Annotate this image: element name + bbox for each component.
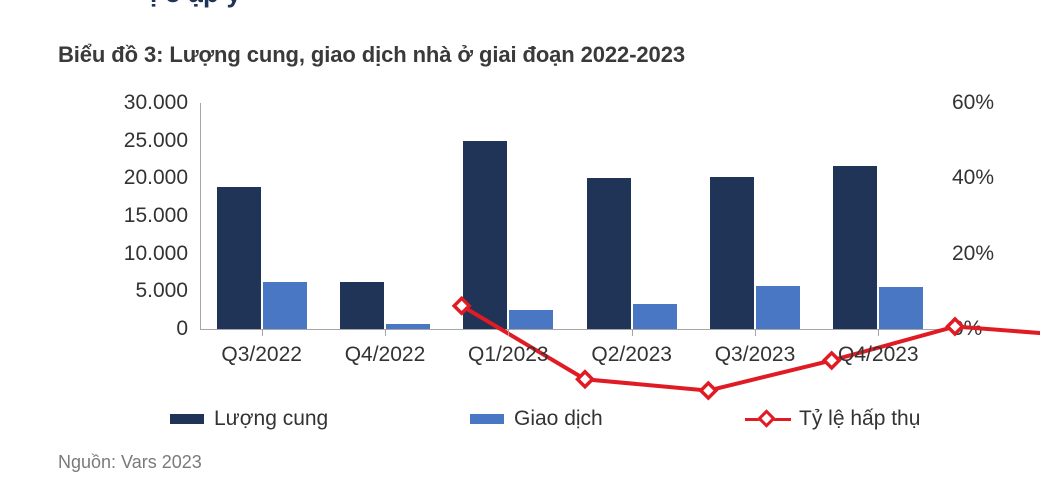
chart-title: Biểu đồ 3: Lượng cung, giao dịch nhà ở g…: [58, 42, 685, 68]
y-axis-left-tick-label: 20.000: [88, 166, 188, 190]
x-axis-tick-label: Q4/2022: [345, 343, 426, 367]
x-axis-tick: [385, 329, 386, 336]
legend-swatch-icon: [470, 414, 504, 424]
x-axis-tick-label: Q2/2023: [591, 343, 672, 367]
legend-label: Lượng cung: [214, 407, 328, 431]
legend-item[interactable]: Tỷ lệ hấp thụ: [745, 404, 920, 434]
x-axis-tick-label: Q3/2023: [715, 343, 796, 367]
y-axis-right-labels: 0%20%40%60%: [952, 103, 1032, 329]
bar-group: [710, 103, 800, 329]
legend-swatch-icon: [170, 414, 204, 424]
bar-group: [587, 103, 677, 329]
bar-giao-dich: [879, 287, 923, 329]
bar-group: [463, 103, 553, 329]
bar-luong-cung: [710, 177, 754, 329]
source-note: Nguồn: Vars 2023: [58, 452, 202, 473]
y-axis-right-tick-label: 20%: [952, 242, 1032, 266]
bar-giao-dich: [263, 282, 307, 329]
bar-luong-cung: [587, 178, 631, 329]
clipped-heading-above: ị ố ập ý: [150, 0, 241, 9]
bar-group: [833, 103, 923, 329]
x-axis-tick: [632, 329, 633, 336]
y-axis-left-tick-label: 25.000: [88, 129, 188, 153]
bar-luong-cung: [340, 282, 384, 329]
x-axis-tick-label: Q4/2023: [838, 343, 919, 367]
bar-luong-cung: [833, 166, 877, 329]
bar-group: [217, 103, 307, 329]
y-axis-right-tick-label: 40%: [952, 166, 1032, 190]
bar-giao-dich: [509, 310, 553, 329]
y-axis-left-tick-label: 10.000: [88, 242, 188, 266]
y-axis-left-tick-label: 0: [88, 317, 188, 341]
x-axis-tick: [755, 329, 756, 336]
chart-legend: Lượng cungGiao dịchTỷ lệ hấp thụ: [0, 404, 1040, 440]
x-axis-tick: [508, 329, 509, 336]
bar-luong-cung: [463, 141, 507, 329]
legend-item[interactable]: Lượng cung: [170, 404, 328, 434]
x-axis-labels: Q3/2022Q4/2022Q1/2023Q2/2023Q3/2023Q4/20…: [200, 343, 940, 373]
plot-area: [200, 103, 940, 329]
x-axis-tick-label: Q3/2022: [221, 343, 302, 367]
x-axis-baseline: [200, 329, 940, 330]
x-axis-tick: [262, 329, 263, 336]
bar-luong-cung: [217, 187, 261, 329]
legend-label: Tỷ lệ hấp thụ: [799, 407, 920, 431]
y-axis-left-tick-label: 5.000: [88, 279, 188, 303]
legend-line-diamond-icon: [745, 411, 791, 427]
y-axis-left-tick-label: 30.000: [88, 91, 188, 115]
legend-label: Giao dịch: [514, 407, 603, 431]
bar-giao-dich: [633, 304, 677, 329]
y-axis-right-tick-label: 60%: [952, 91, 1032, 115]
legend-item[interactable]: Giao dịch: [470, 404, 603, 434]
bar-group: [340, 103, 430, 329]
absorption-marker-diamond: [578, 372, 593, 387]
y-axis-left-line: [200, 103, 201, 329]
bar-giao-dich: [756, 286, 800, 329]
x-axis-tick-label: Q1/2023: [468, 343, 549, 367]
bar-giao-dich: [386, 324, 430, 329]
absorption-marker-diamond: [701, 383, 716, 398]
y-axis-left-tick-label: 15.000: [88, 204, 188, 228]
y-axis-left-labels: 05.00010.00015.00020.00025.00030.000: [88, 103, 188, 329]
y-axis-right-tick-label: 0%: [952, 317, 1032, 341]
x-axis-tick: [878, 329, 879, 336]
